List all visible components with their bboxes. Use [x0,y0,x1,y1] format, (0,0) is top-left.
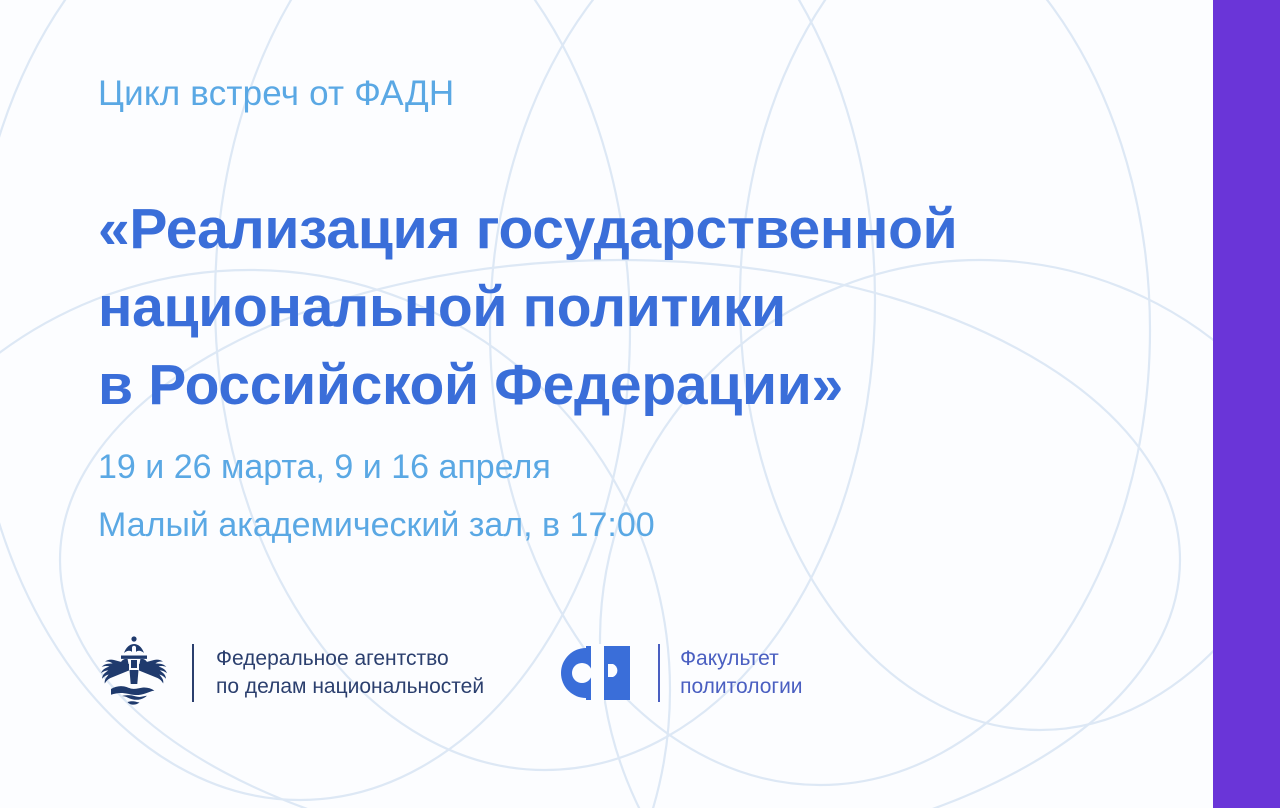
event-dates: 19 и 26 марта, 9 и 16 апреля [98,438,655,496]
page-title: «Реализация государственной национальной… [98,190,1178,424]
faculty-logo-text-line-1: Факультет [680,645,802,673]
agency-logo-text-line-1: Федеральное агентство [216,645,484,673]
faculty-logo: Факультет политологии [558,642,802,704]
event-poster: Цикл встреч от ФАДН «Реализация государс… [0,0,1280,808]
page-title-line-2: национальной политики [98,268,1178,346]
page-title-line-3: в Российской Федерации» [98,346,1178,424]
faculty-logo-divider [658,644,660,702]
agency-logo: Федеральное агентство по делам националь… [100,634,484,712]
footer-logos: Федеральное агентство по делам националь… [100,634,803,712]
event-venue-time: Малый академический зал, в 17:00 [98,496,655,554]
agency-logo-text-line-2: по делам национальностей [216,673,484,701]
event-details: 19 и 26 марта, 9 и 16 апреля Малый акаде… [98,438,655,554]
purple-accent-band [1213,0,1280,808]
faculty-logo-text-line-2: политологии [680,673,802,701]
poster-eyebrow: Цикл встреч от ФАДН [98,74,454,114]
agency-logo-divider [192,644,194,702]
faculty-fp-monogram-icon [558,642,636,704]
russian-coat-of-arms-eagle-icon [100,634,168,712]
page-title-line-1: «Реализация государственной [98,190,1178,268]
agency-logo-text: Федеральное агентство по делам националь… [216,645,484,701]
faculty-logo-text: Факультет политологии [680,645,802,701]
